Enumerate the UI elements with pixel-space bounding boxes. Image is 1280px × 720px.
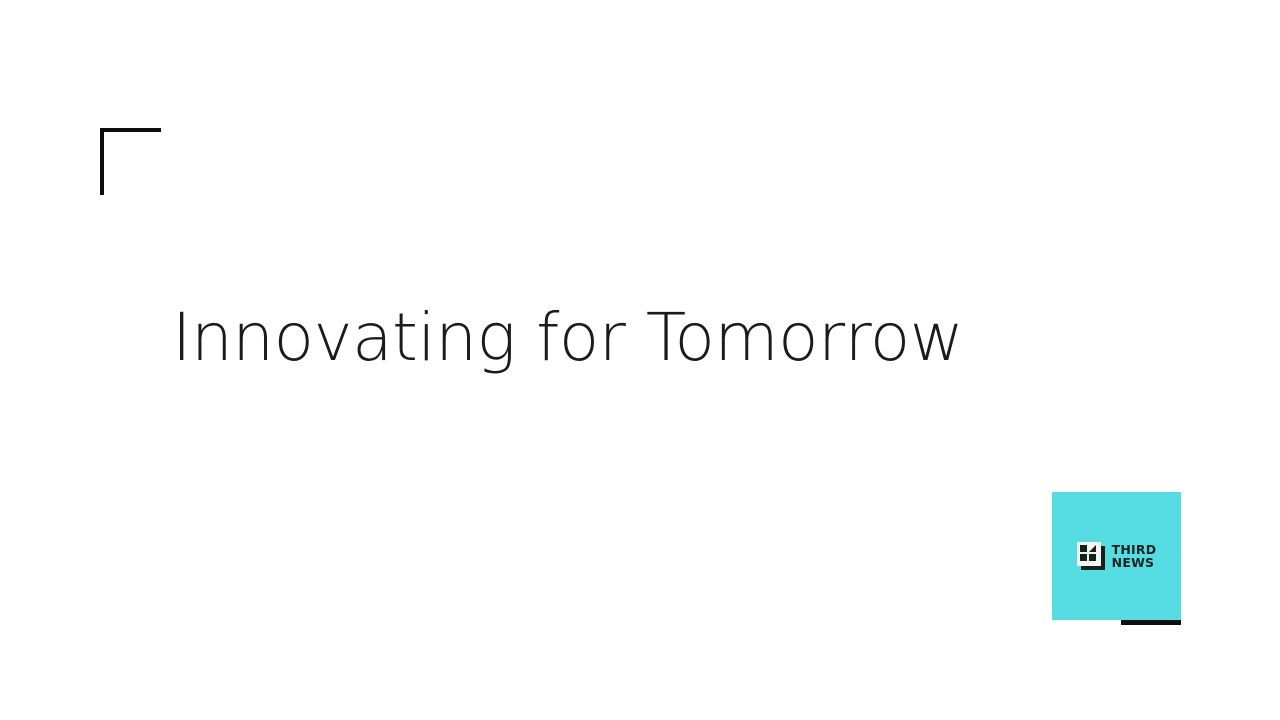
icon-pane-top-left [1080,545,1087,552]
logo-wordmark-line-2: NEWS [1112,556,1157,569]
logo-block: THIRD NEWS [1052,492,1181,620]
slide-title: Innovating for Tomorrow [172,300,963,376]
window-pane-icon [1077,542,1105,570]
logo-lockup: THIRD NEWS [1077,542,1157,570]
corner-bracket-top-left-decoration [100,128,161,195]
icon-face [1077,542,1101,566]
icon-pane-top-right [1089,545,1096,552]
icon-pane-bottom-left [1080,554,1087,561]
bracket-horizontal-bar [100,128,161,132]
icon-pane-bottom-right [1089,554,1096,561]
icon-pane-grid [1080,545,1098,563]
presentation-slide: Innovating for Tomorrow THIRD [0,0,1280,720]
bracket-vertical-bar [100,128,104,195]
logo-wordmark: THIRD NEWS [1112,543,1157,569]
